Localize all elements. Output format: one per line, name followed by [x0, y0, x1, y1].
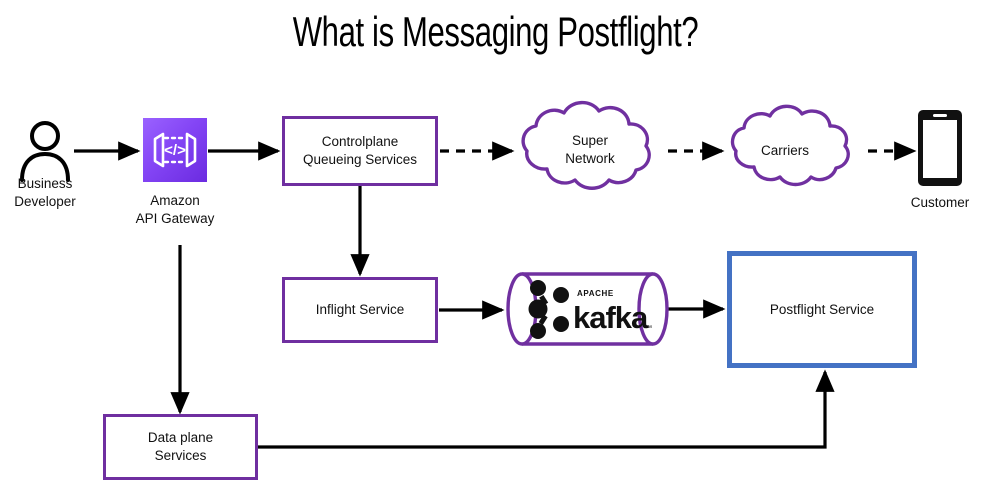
- apache-kafka-logo: [529, 280, 570, 339]
- super-network-label-line2: Network: [565, 151, 615, 166]
- smartphone-icon: [918, 110, 962, 186]
- svg-text:</>: </>: [164, 142, 186, 159]
- inflight-service-label: Inflight Service: [316, 301, 405, 319]
- developer-label-line1: Business: [18, 176, 73, 191]
- postflight-service-node[interactable]: Postflight Service: [727, 251, 917, 368]
- diagram-canvas: What is Messaging Postflight?: [0, 0, 991, 487]
- developer-label-line2: Developer: [14, 194, 76, 209]
- carriers-label: Carriers: [720, 142, 850, 160]
- controlplane-label-line1: Controlplane: [322, 134, 399, 149]
- connector-dataplane-to-postflight: [258, 372, 825, 447]
- api-gateway-label-line2: API Gateway: [136, 211, 215, 226]
- data-plane-services-node[interactable]: Data plane Services: [103, 414, 258, 480]
- business-developer-figure: [16, 120, 74, 182]
- person-icon: [16, 120, 74, 182]
- super-network-label-line1: Super: [572, 133, 608, 148]
- apache-kafka-node[interactable]: APACHE kafka ™: [505, 270, 670, 348]
- kafka-name-text: kafka: [573, 300, 649, 335]
- inflight-service-node[interactable]: Inflight Service: [282, 277, 438, 343]
- kafka-trademark-text: ™: [645, 325, 652, 332]
- api-gateway-label: Amazon API Gateway: [110, 192, 240, 228]
- super-network-label: Super Network: [515, 132, 665, 168]
- dataplane-label-line2: Services: [155, 448, 207, 463]
- dataplane-label-line1: Data plane: [148, 430, 213, 445]
- controlplane-queueing-services-node[interactable]: Controlplane Queueing Services: [282, 116, 438, 186]
- aws-api-gateway-icon[interactable]: </>: [143, 118, 207, 182]
- api-gateway-label-line1: Amazon: [150, 193, 200, 208]
- kafka-vendor-text: APACHE: [577, 289, 614, 298]
- carriers-label-text: Carriers: [761, 143, 809, 158]
- business-developer-label: Business Developer: [0, 175, 90, 211]
- customer-label-text: Customer: [911, 195, 970, 210]
- phone-screen: [923, 120, 957, 178]
- postflight-service-label: Postflight Service: [770, 301, 874, 319]
- phone-speaker-icon: [933, 114, 947, 117]
- customer-label: Customer: [880, 194, 991, 212]
- controlplane-label-line2: Queueing Services: [303, 152, 417, 167]
